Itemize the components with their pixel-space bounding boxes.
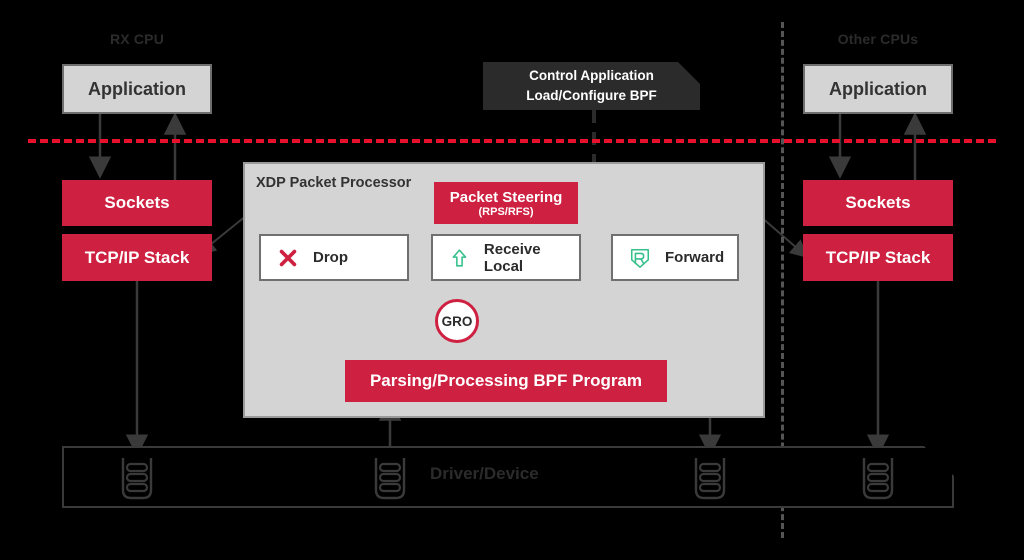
other-cpus-label: Other CPUs [803,31,953,47]
xdp-panel-title: XDP Packet Processor [256,175,411,191]
control-line-2: Load/Configure BPF [526,86,657,106]
queue-icon-3[interactable] [691,456,729,505]
other-application-box[interactable]: Application [803,64,953,114]
action-drop-box[interactable]: Drop [259,234,409,281]
action-receive-local-box[interactable]: Receive Local [431,234,581,281]
driver-device-label: Driver/Device [430,464,539,484]
control-application-box[interactable]: Control Application Load/Configure BPF [483,62,700,110]
rx-cpu-label: RX CPU [62,31,212,47]
action-drop-label: Drop [313,249,348,266]
action-receive-local-label: Receive Local [484,241,579,275]
cross-icon [277,247,299,269]
action-forward-box[interactable]: Forward [611,234,739,281]
packet-steering-title: Packet Steering [450,189,563,206]
rx-tcpip-box[interactable]: TCP/IP Stack [62,234,212,281]
packet-steering-box[interactable]: Packet Steering (RPS/RFS) [434,182,578,224]
other-sockets-box[interactable]: Sockets [803,180,953,226]
other-tcpip-box[interactable]: TCP/IP Stack [803,234,953,281]
queue-icon-4[interactable] [859,456,897,505]
gro-node[interactable]: GRO [435,299,479,343]
up-arrow-icon [449,247,470,269]
control-line-1: Control Application [529,66,654,86]
queue-icon-2[interactable] [371,456,409,505]
rx-sockets-box[interactable]: Sockets [62,180,212,226]
rx-application-box[interactable]: Application [62,64,212,114]
queue-icon-1[interactable] [118,456,156,505]
diagram-canvas: RX CPU Other CPUs Application Sockets TC… [0,0,1024,560]
packet-steering-subtitle: (RPS/RFS) [479,206,534,218]
forward-icon [629,247,651,269]
bpf-program-box[interactable]: Parsing/Processing BPF Program [345,360,667,402]
user-kernel-boundary-line [28,139,996,143]
action-forward-label: Forward [665,249,724,266]
